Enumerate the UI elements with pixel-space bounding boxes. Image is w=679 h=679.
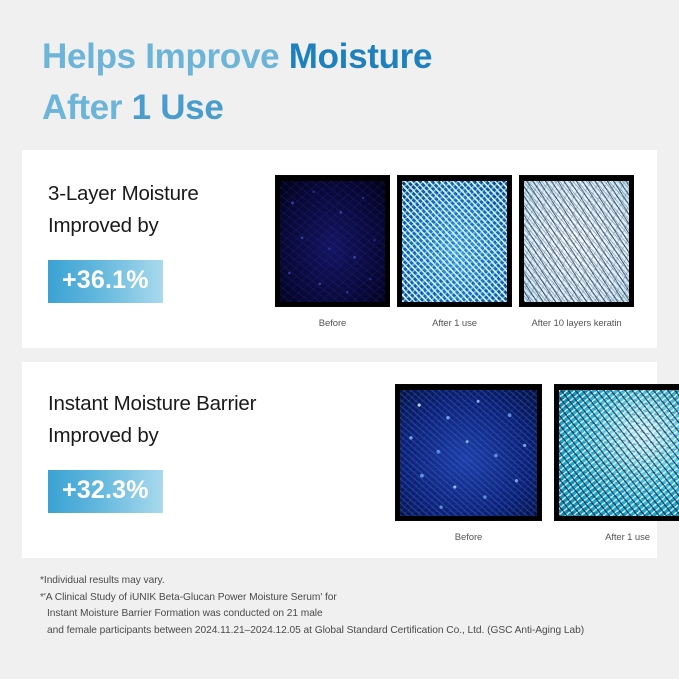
- microscopy-texture: [559, 390, 679, 516]
- microscopy-image-cell: After 1 use: [554, 384, 679, 543]
- page-title-segment-moisture: Moisture: [289, 37, 432, 76]
- card-title: 3-Layer Moisture Improved by: [48, 178, 298, 243]
- microscopy-image-cell: Before: [395, 384, 542, 543]
- microscopy-image-label: After 1 use: [432, 318, 477, 329]
- card-text-block: Instant Moisture Barrier Improved by +32…: [48, 388, 338, 513]
- microscopy-image-after-1-use: [397, 175, 512, 307]
- page-title: Helps Improve Moisture After 1 Use: [42, 32, 602, 134]
- result-card-3-layer-moisture: 3-Layer Moisture Improved by +36.1% Befo…: [22, 150, 657, 348]
- page-title-line-1: Helps Improve Moisture: [42, 32, 602, 83]
- result-card-instant-moisture-barrier: Instant Moisture Barrier Improved by +32…: [22, 362, 657, 558]
- status-badge: +36.1%: [48, 260, 163, 304]
- page-title-segment-one-use: 1 Use: [132, 88, 224, 127]
- page-title-line-2: After 1 Use: [42, 83, 602, 134]
- footnote-block: *Individual results may vary. *'A Clinic…: [40, 573, 650, 639]
- microscopy-image-before: [275, 175, 390, 307]
- card-title-line-1: 3-Layer Moisture: [48, 182, 199, 205]
- microscopy-texture: [524, 181, 629, 302]
- card-title-line-2: Improved by: [48, 210, 298, 242]
- microscopy-image-label: After 1 use: [605, 532, 650, 543]
- microscopy-image-after-10-layers: [519, 175, 634, 307]
- status-badge: +32.3%: [48, 470, 163, 514]
- microscopy-texture: [280, 181, 385, 302]
- microscopy-image-label: After 10 layers keratin: [531, 318, 621, 329]
- microscopy-image-strip: Before After 1 use: [395, 384, 679, 543]
- microscopy-image-after-1-use: [554, 384, 679, 521]
- card-title-line-2: Improved by: [48, 420, 338, 452]
- card-text-block: 3-Layer Moisture Improved by +36.1%: [48, 178, 298, 303]
- microscopy-texture: [402, 181, 507, 302]
- microscopy-image-label: Before: [455, 532, 482, 543]
- footnote-line-3: Instant Moisture Barrier Formation was c…: [40, 606, 650, 623]
- footnote-line-2: *'A Clinical Study of iUNIK Beta-Glucan …: [40, 590, 650, 607]
- footnote-line-4: and female participants between 2024.11.…: [40, 623, 650, 640]
- microscopy-image-cell: Before: [275, 175, 390, 329]
- page-title-segment-after: After: [42, 88, 132, 127]
- card-title: Instant Moisture Barrier Improved by: [48, 388, 338, 453]
- microscopy-image-strip: Before After 1 use After 10 layers kerat…: [275, 175, 634, 329]
- microscopy-image-before: [395, 384, 542, 521]
- microscopy-image-cell: After 1 use: [397, 175, 512, 329]
- microscopy-image-cell: After 10 layers keratin: [519, 175, 634, 329]
- page-title-segment-helps-improve: Helps Improve: [42, 37, 289, 76]
- microscopy-image-label: Before: [319, 318, 346, 329]
- card-title-line-1: Instant Moisture Barrier: [48, 392, 256, 415]
- infographic-page: Helps Improve Moisture After 1 Use 3-Lay…: [0, 0, 679, 679]
- footnote-line-1: *Individual results may vary.: [40, 573, 650, 590]
- microscopy-texture: [400, 390, 537, 516]
